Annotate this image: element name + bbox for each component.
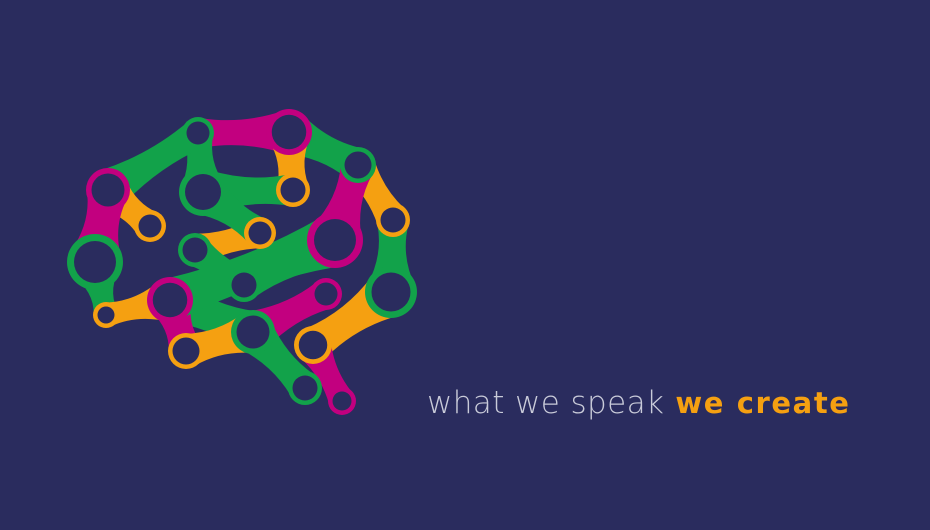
tagline-light-text: what we speak	[427, 388, 664, 419]
logo-node-hole	[293, 376, 318, 401]
logo-node-hole	[272, 115, 307, 150]
logo-node-hole	[232, 273, 257, 298]
logo-node-hole	[249, 222, 272, 245]
logo-node-hole	[185, 174, 221, 210]
brain-network-logo	[55, 95, 445, 435]
logo-node-hole	[153, 283, 188, 318]
tagline-accent-text: we create	[675, 389, 850, 418]
tagline: what we speak we create	[427, 388, 851, 430]
logo-node-hole	[281, 178, 306, 203]
logo-node-hole	[98, 307, 115, 324]
logo-node-hole	[299, 331, 328, 360]
slide-canvas: what we speak we create	[0, 0, 930, 530]
logo-node-hole	[333, 392, 352, 411]
logo-node-hole	[92, 174, 125, 207]
logo-node-hole	[381, 208, 406, 233]
brain-network-svg	[55, 95, 445, 435]
logo-node-hole	[314, 219, 356, 261]
logo-node-hole	[183, 238, 208, 263]
logo-node-hole	[372, 273, 411, 312]
logo-node-hole	[237, 316, 270, 349]
logo-node-hole	[187, 122, 210, 145]
logo-node-hole	[139, 215, 162, 238]
logo-node-hole	[173, 338, 200, 365]
logo-node-hole	[345, 152, 372, 179]
logo-node-hole	[315, 283, 338, 306]
logo-node-hole	[74, 241, 116, 283]
